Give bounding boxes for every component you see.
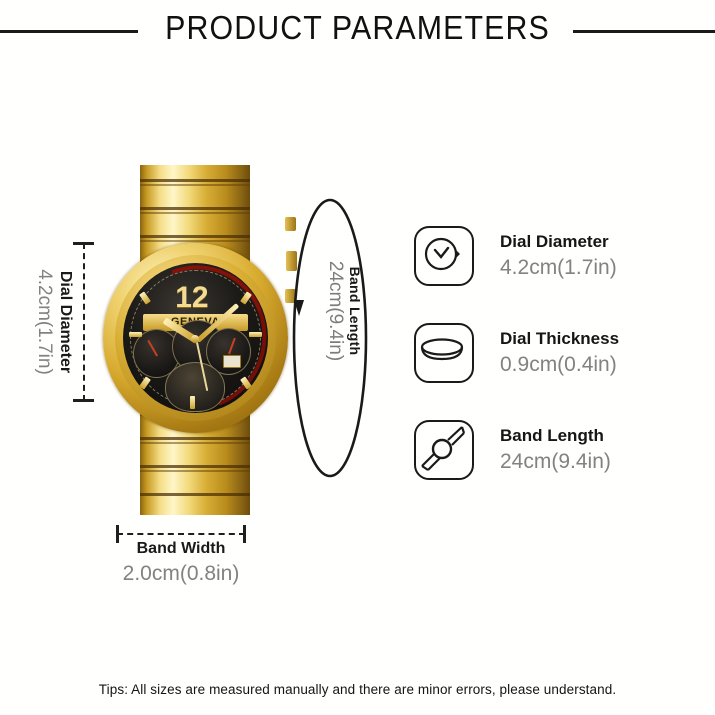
spec-value: 4.2cm(1.7in) [500,255,617,281]
spec-row-band-length: Band Length 24cm(9.4in) [414,416,704,484]
subdial-bottom [165,362,225,412]
watch-band-icon [414,420,474,480]
band-width-value: 2.0cm(0.8in) [76,562,286,586]
spec-value: 0.9cm(0.4in) [500,352,619,378]
band-width-label: Band Width [76,540,286,558]
dial-diameter-label-group: Dial Diameter 4.2cm(1.7in) [14,243,74,401]
spec-label: Dial Thickness [500,328,619,349]
spec-list: Dial Diameter 4.2cm(1.7in) Dial Thicknes… [414,222,704,513]
spec-value: 24cm(9.4in) [500,449,611,475]
dial-diameter-label: Dial Diameter [56,271,74,373]
spec-text-dial-diameter: Dial Diameter 4.2cm(1.7in) [500,231,617,281]
spec-text-dial-thickness: Dial Thickness 0.9cm(0.4in) [500,328,619,378]
band-width-label-group: Band Width 2.0cm(0.8in) [76,540,286,586]
hour-marker-3 [249,332,262,337]
disc-thickness-icon [414,323,474,383]
band-width-line [117,533,245,535]
spec-row-dial-thickness: Dial Thickness 0.9cm(0.4in) [414,319,704,387]
date-window [223,355,241,368]
hour-marker-6 [190,396,195,409]
watch-dial-icon [414,226,474,286]
band-length-value: 24cm(9.4in) [324,261,346,361]
watch-dial: 12 GENEVA [123,263,268,413]
band-length-label-group: Band Length 24cm(9.4in) [305,221,363,401]
page-title: PRODUCT PARAMETERS [29,9,687,47]
dial-diameter-value: 4.2cm(1.7in) [33,269,55,375]
dial-numeral-12: 12 [175,281,208,315]
footer-tips: Tips: All sizes are measured manually an… [0,682,715,697]
hour-marker-9 [129,332,142,337]
watch-case: 12 GENEVA [103,243,288,433]
watch-product-image: 12 GENEVA [103,165,288,515]
spec-row-dial-diameter: Dial Diameter 4.2cm(1.7in) [414,222,704,290]
product-parameters-page: PRODUCT PARAMETERS [0,0,715,715]
spec-label: Band Length [500,425,611,446]
band-length-dimension: Band Length 24cm(9.4in) [288,196,373,481]
dimension-line-vertical [83,243,85,401]
page-header: PRODUCT PARAMETERS [0,0,715,62]
spec-text-band-length: Band Length 24cm(9.4in) [500,425,611,475]
spec-label: Dial Diameter [500,231,617,252]
band-length-label: Band Length [347,267,363,356]
dimension-cap-bottom [73,399,94,402]
